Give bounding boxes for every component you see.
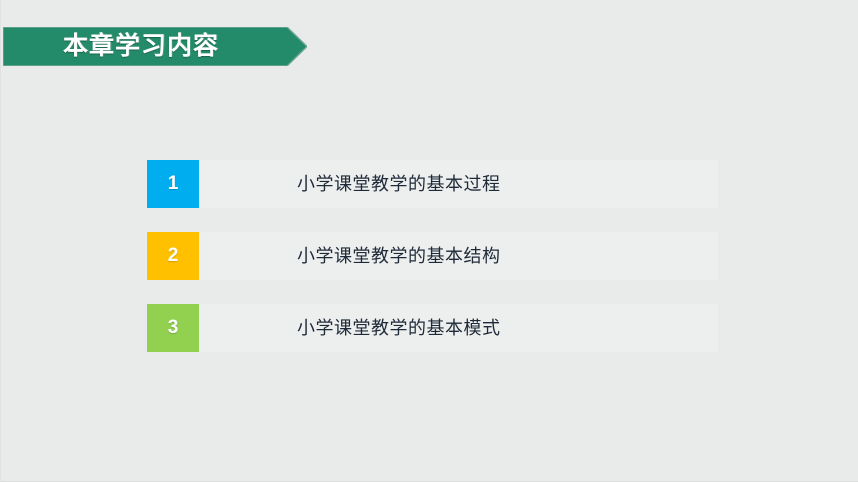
agenda-item-1[interactable]: 1 小学课堂教学的基本过程 xyxy=(147,160,718,208)
section-header-banner: 本章学习内容 xyxy=(3,27,307,66)
agenda-item-number-badge: 2 xyxy=(147,232,199,280)
agenda-item-label: 小学课堂教学的基本结构 xyxy=(297,232,501,280)
agenda-item-number-badge: 1 xyxy=(147,160,199,208)
agenda-item-label: 小学课堂教学的基本模式 xyxy=(297,304,501,352)
presentation-slide: 本章学习内容 1 小学课堂教学的基本过程 2 小学课堂教学的基本结构 3 小学课… xyxy=(0,0,858,482)
agenda-item-label: 小学课堂教学的基本过程 xyxy=(297,160,501,208)
agenda-item-2[interactable]: 2 小学课堂教学的基本结构 xyxy=(147,232,718,280)
page-title: 本章学习内容 xyxy=(63,27,219,66)
agenda-item-3[interactable]: 3 小学课堂教学的基本模式 xyxy=(147,304,718,352)
agenda-item-number-badge: 3 xyxy=(147,304,199,352)
